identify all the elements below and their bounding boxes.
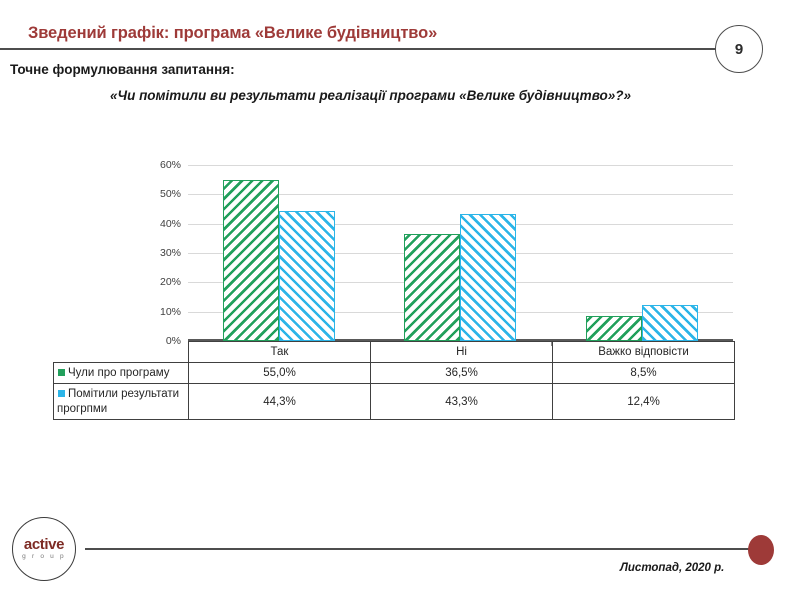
- table-cell-value: 12,4%: [553, 384, 735, 420]
- slide: Зведений графік: програма «Велике будівн…: [0, 0, 796, 597]
- legend-label: Чули про програму: [68, 367, 170, 379]
- data-table: ТакНіВажко відповістиЧули про програму55…: [53, 341, 735, 420]
- bar-group: [188, 165, 370, 341]
- legend-entry: Помітили результати прогрпми: [54, 384, 189, 420]
- y-axis-tick-label: 50%: [160, 188, 181, 200]
- chart-plot-area: 0%10%20%30%40%50%60%: [188, 165, 733, 341]
- table-cell-value: 36,5%: [371, 362, 553, 383]
- y-axis-tick-label: 10%: [160, 306, 181, 318]
- y-axis-tick-label: 60%: [160, 159, 181, 171]
- y-axis-tick-label: 20%: [160, 276, 181, 288]
- table-column-header: Ні: [371, 342, 553, 363]
- table-cell-value: 8,5%: [553, 362, 735, 383]
- y-axis-tick-label: 30%: [160, 247, 181, 259]
- legend-swatch-icon: [57, 389, 66, 398]
- logo-sub-text: g r o u p: [22, 554, 66, 561]
- table-corner-cell: [54, 342, 189, 363]
- table-row: Чули про програму55,0%36,5%8,5%: [54, 362, 735, 383]
- active-group-logo: active g r o u p: [12, 517, 76, 581]
- legend-swatch-icon: [57, 368, 66, 377]
- bar: [460, 214, 516, 341]
- table-row: Помітили результати прогрпми44,3%43,3%12…: [54, 384, 735, 420]
- table-cell-value: 44,3%: [189, 384, 371, 420]
- table-column-header: Важко відповісти: [553, 342, 735, 363]
- legend-entry: Чули про програму: [54, 362, 189, 383]
- bar: [586, 316, 642, 341]
- footer-date: Листопад, 2020 р.: [620, 562, 724, 574]
- logo-main-text: active: [24, 537, 64, 552]
- table-cell-value: 43,3%: [371, 384, 553, 420]
- bar: [279, 211, 335, 341]
- table-header-row: ТакНіВажко відповісти: [54, 342, 735, 363]
- bar-group: [551, 165, 733, 341]
- legend-label: Помітили результати прогрпми: [57, 388, 179, 414]
- chart: 0%10%20%30%40%50%60%: [0, 0, 796, 597]
- table-column-header: Так: [189, 342, 371, 363]
- bar: [642, 305, 698, 341]
- bar-group: [370, 165, 552, 341]
- footer-dot: [748, 535, 774, 565]
- footer-divider: [85, 548, 765, 550]
- bar: [404, 234, 460, 341]
- bar: [223, 180, 279, 341]
- y-axis-tick-label: 40%: [160, 218, 181, 230]
- table-cell-value: 55,0%: [189, 362, 371, 383]
